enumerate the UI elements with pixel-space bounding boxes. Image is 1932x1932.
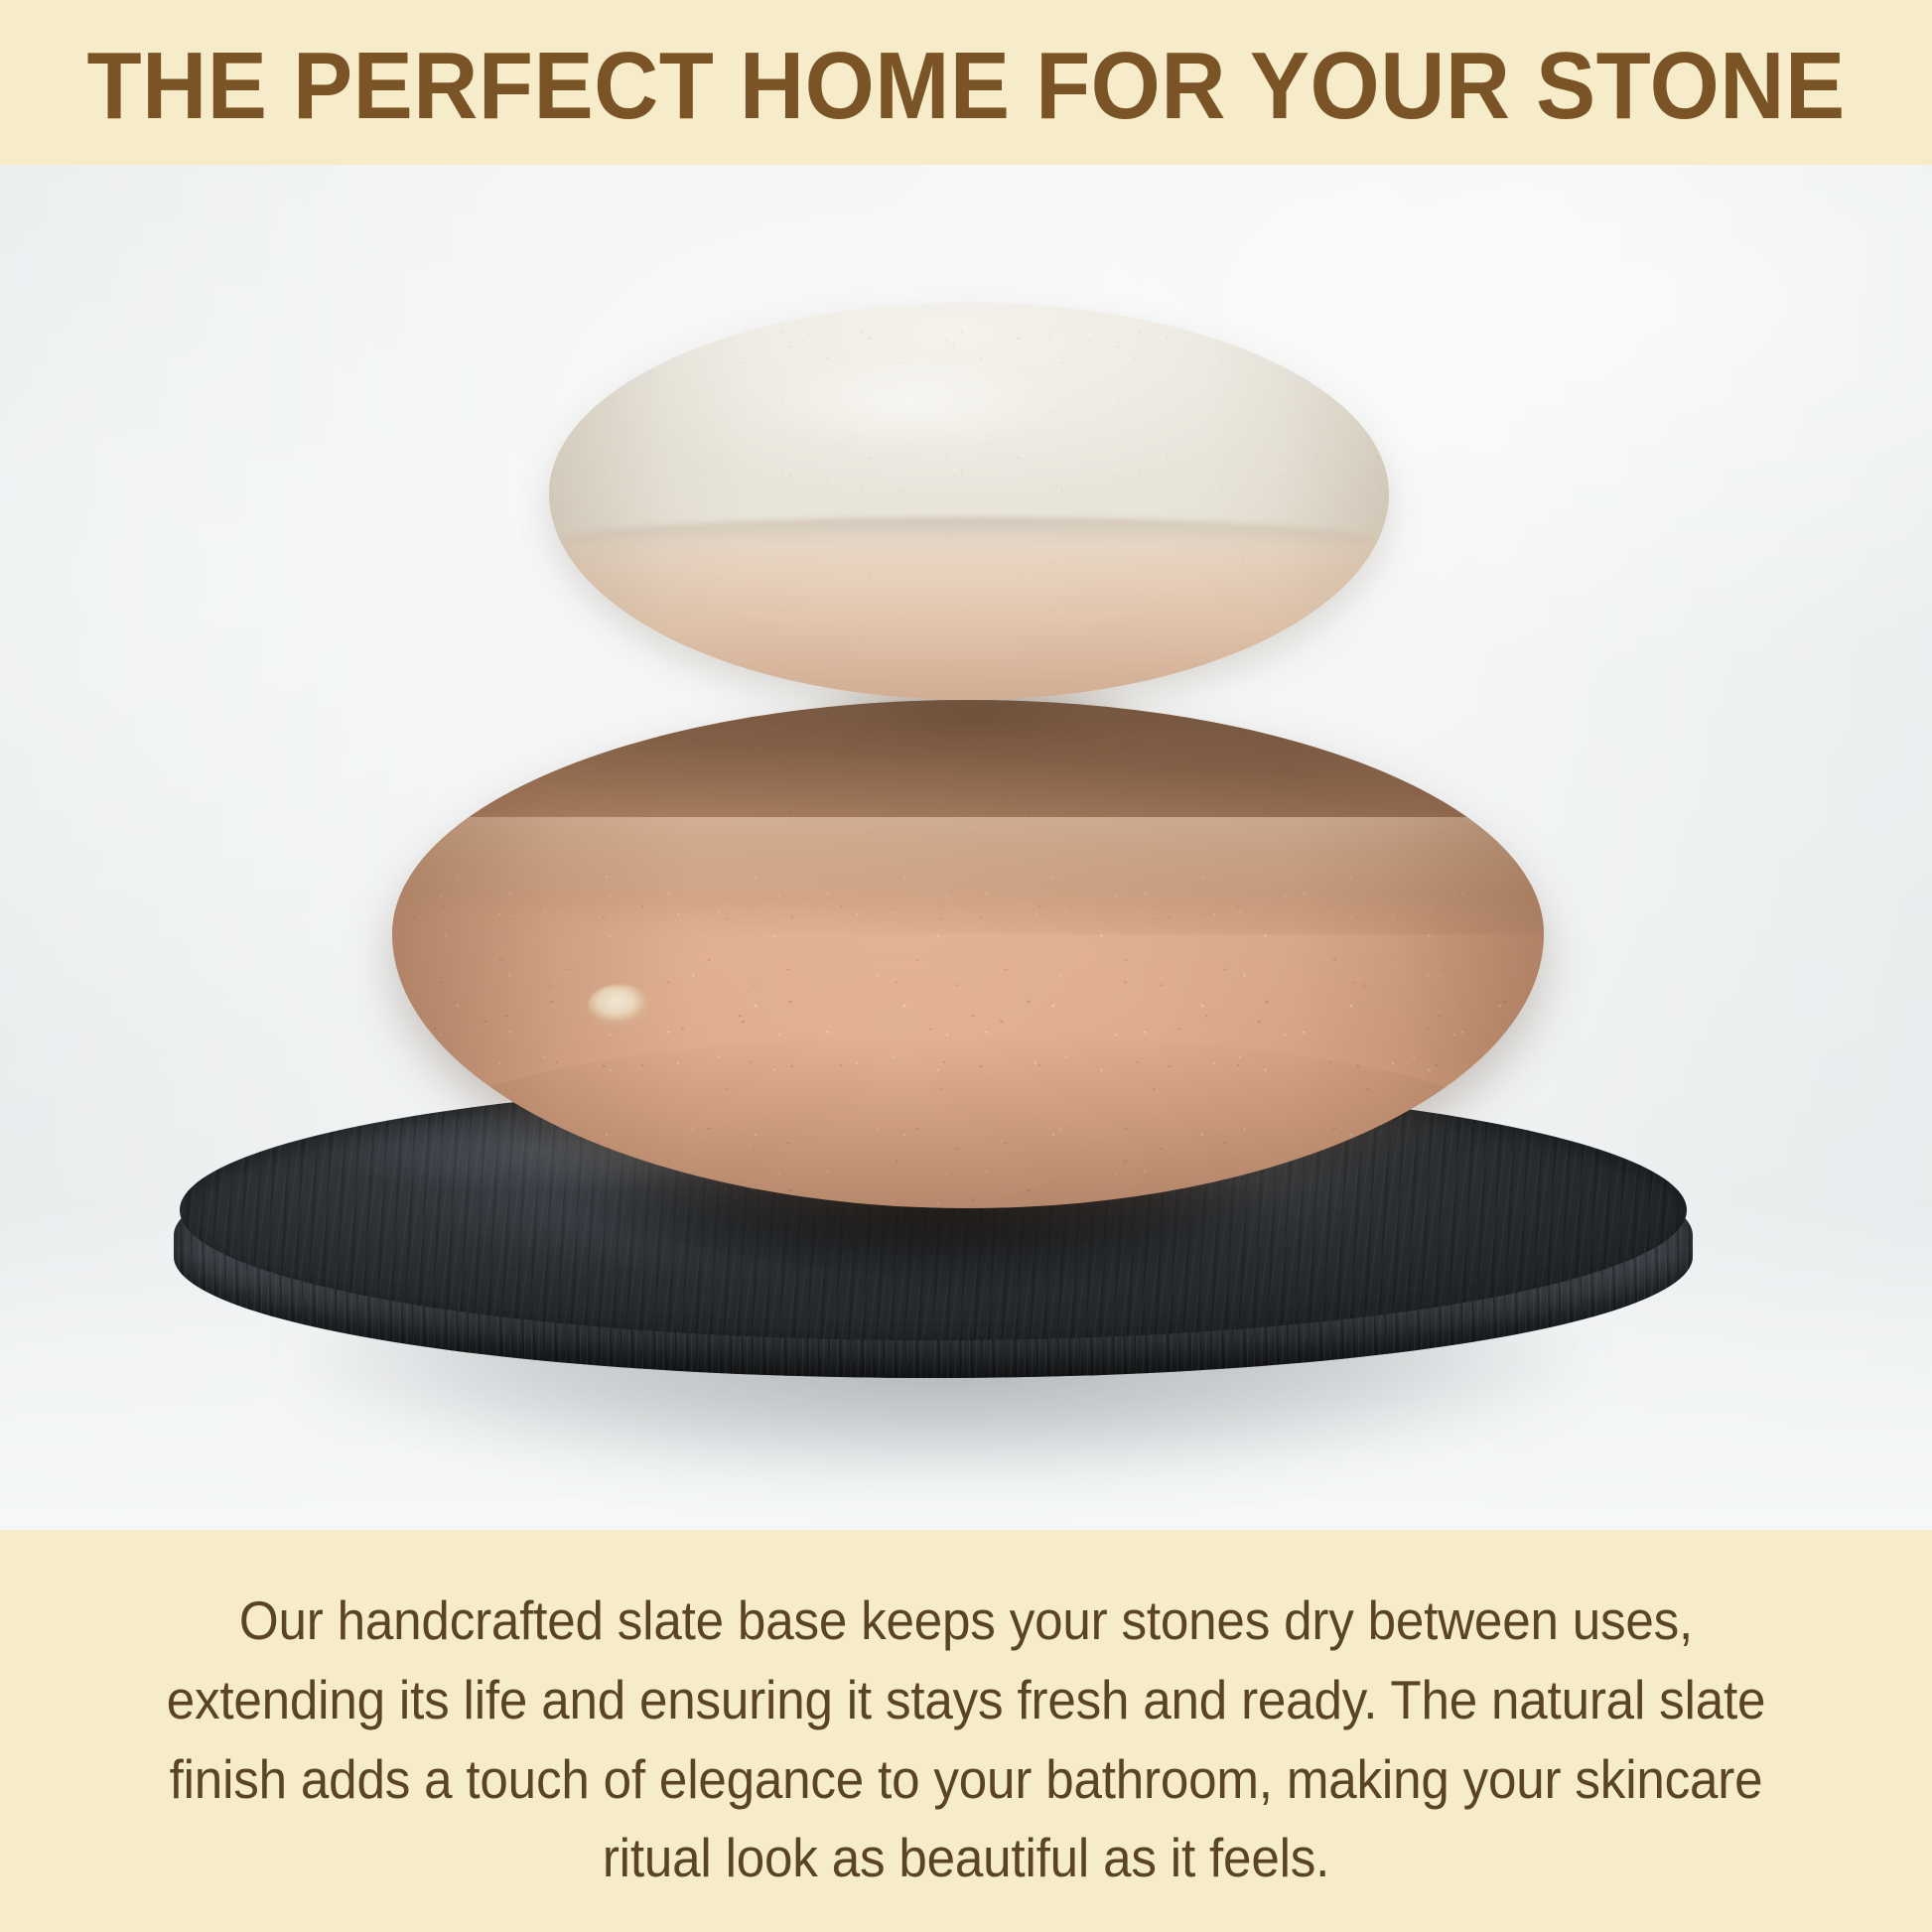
top-stone-speckles [549,303,1389,700]
top-stone-right-shading [1204,303,1389,700]
top-stone-lower-half [549,525,1389,700]
bottom-stone-equator-light [392,817,1544,1051]
top-stone [549,303,1389,700]
bottom-stone-right-shading [1291,700,1544,1208]
top-stone-ridge [566,517,1372,565]
bottom-stone-top-shadow [392,700,1544,934]
product-poster: THE PERFECT HOME FOR YOUR STONE [0,0,1932,1932]
footer-band: Our handcrafted slate base keeps your st… [0,1530,1932,1932]
top-stone-left-shading [549,303,751,700]
bottom-stone-inclusion [588,985,649,1027]
bottom-stone-body [392,700,1544,1208]
bottom-stone [392,700,1544,1208]
bottom-stone-speckles [392,700,1544,1208]
top-stone-highlight [700,335,1120,470]
product-photo [0,165,1932,1530]
bottom-stone-bevel [438,1035,1497,1208]
page-title: THE PERFECT HOME FOR YOUR STONE [86,39,1845,134]
description-text: Our handcrafted slate base keeps your st… [140,1582,1793,1898]
top-stone-dome [549,303,1389,573]
bottom-stone-left-shading [392,700,692,1208]
header-band: THE PERFECT HOME FOR YOUR STONE [0,0,1932,165]
top-stone-body [549,303,1389,700]
